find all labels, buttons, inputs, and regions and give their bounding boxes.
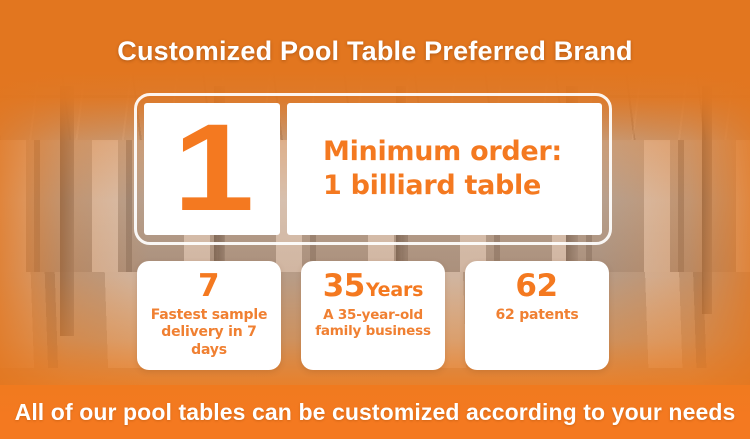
promo-banner: Customized Pool Table Preferred Brand 1 … bbox=[0, 0, 750, 446]
stat-description: Fastest sample delivery in 7 days bbox=[143, 307, 275, 360]
hero-number-value: 1 bbox=[172, 118, 251, 220]
footer-white-strip bbox=[0, 439, 750, 446]
footer-banner-text: All of our pool tables can be customized… bbox=[15, 399, 736, 426]
page-title: Customized Pool Table Preferred Brand bbox=[0, 36, 750, 67]
stat-description-line-2: delivery in 7 days bbox=[143, 324, 275, 359]
hero-text-line-2: 1 billiard table bbox=[323, 169, 602, 203]
stat-head: 62 bbox=[515, 270, 558, 303]
hero-text-line-1: Minimum order: bbox=[323, 135, 602, 169]
stat-unit: Years bbox=[366, 281, 423, 300]
stat-head: 7 bbox=[198, 270, 220, 303]
stat-description-line-1: 62 patents bbox=[495, 307, 578, 325]
stat-head: 35 Years bbox=[323, 270, 424, 303]
stat-card-row: 7 Fastest sample delivery in 7 days 35 Y… bbox=[137, 261, 610, 370]
stat-description-line-1: Fastest sample bbox=[143, 307, 275, 325]
hero-panel: 1 Minimum order: 1 billiard table bbox=[134, 93, 612, 245]
stat-card-sample-delivery: 7 Fastest sample delivery in 7 days bbox=[137, 261, 281, 370]
footer-banner: All of our pool tables can be customized… bbox=[0, 385, 750, 439]
stat-value: 35 bbox=[323, 270, 365, 303]
stat-card-patents: 62 62 patents bbox=[465, 261, 609, 370]
hero-text-card: Minimum order: 1 billiard table bbox=[287, 103, 602, 235]
stat-description-line-2: family business bbox=[315, 323, 431, 340]
hero-number-card: 1 bbox=[144, 103, 280, 235]
stat-value: 62 bbox=[515, 270, 557, 303]
stat-description: 62 patents bbox=[495, 307, 578, 325]
stat-card-years-in-business: 35 Years A 35-year-old family business bbox=[301, 261, 445, 370]
stat-description-line-1: A 35-year-old bbox=[315, 307, 431, 324]
stat-description: A 35-year-old family business bbox=[315, 307, 431, 341]
stat-value: 7 bbox=[198, 270, 219, 303]
